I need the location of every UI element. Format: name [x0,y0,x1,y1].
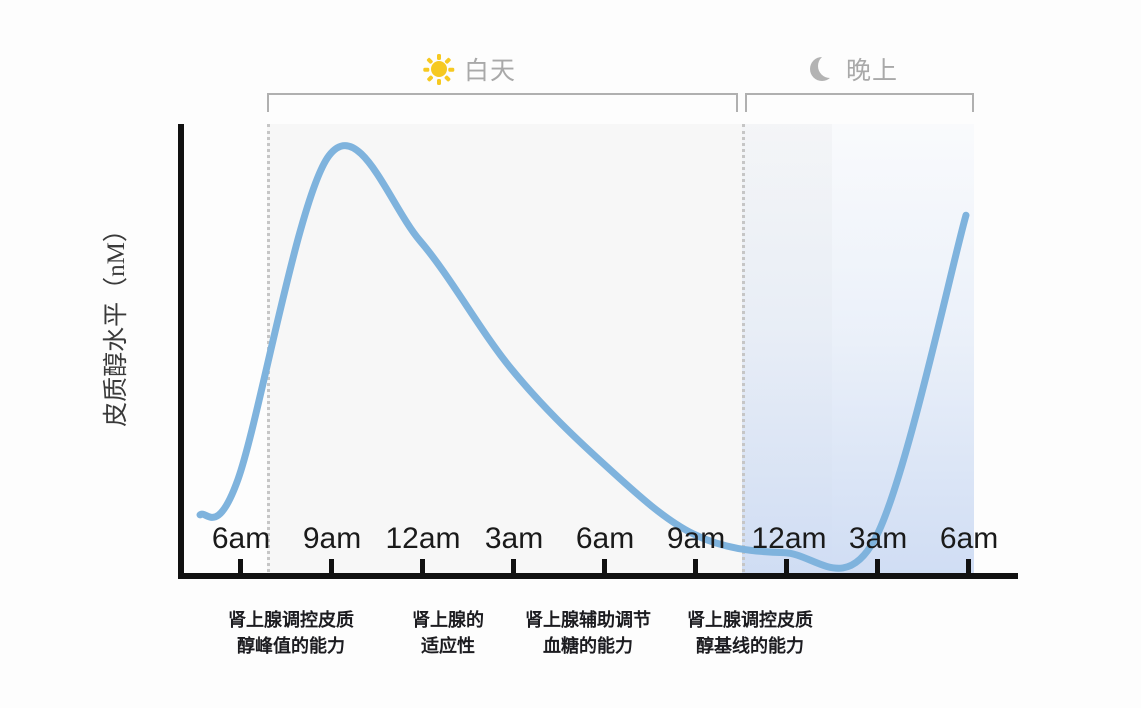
day-range-bracket [267,93,738,112]
sun-icon [424,54,454,84]
x-tick-label-5: 9am [667,522,725,556]
legend-day: 白天 [424,51,516,87]
legend-night-label: 晚上 [846,51,898,87]
x-tick-label-8: 6am [940,522,998,556]
x-tick-label-1: 9am [303,522,361,556]
x-tick-label-6: 12am [751,522,826,556]
x-tick-4 [602,559,607,573]
annotation-peak: 肾上腺调控皮质 醇峰值的能力 [196,608,386,660]
cortisol-curve [178,124,1018,579]
x-tick-8 [966,559,971,573]
plot-area: 6am 9am 12am 3am 6am 9am 12am 3am 6am [178,124,1018,579]
legend-night: 晚上 [806,51,898,87]
legend-day-label: 白天 [464,51,516,87]
x-tick-label-3: 3am [485,522,543,556]
y-axis-title: 皮质醇水平（nM） [96,152,132,492]
x-tick-3 [511,559,516,573]
x-tick-label-7: 3am [849,522,907,556]
moon-icon [806,54,836,84]
x-tick-6 [784,559,789,573]
chart-canvas: 白天 晚上 皮质醇水平（nM） 6am 9am 12am 3am [0,0,1141,708]
x-tick-7 [875,559,880,573]
x-tick-2 [420,559,425,573]
x-tick-label-2: 12am [385,522,460,556]
x-tick-5 [693,559,698,573]
x-tick-1 [329,559,334,573]
night-range-bracket [745,93,974,112]
x-tick-0 [238,559,243,573]
y-axis-line [178,124,184,579]
x-tick-label-0: 6am [212,522,270,556]
annotation-baseline: 肾上腺调控皮质 醇基线的能力 [655,608,845,660]
x-tick-label-4: 6am [576,522,634,556]
x-axis-line [178,573,1018,579]
